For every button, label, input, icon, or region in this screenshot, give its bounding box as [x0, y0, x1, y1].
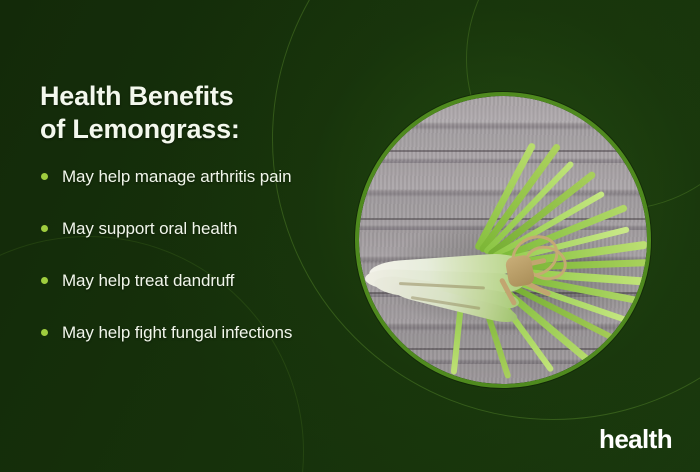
benefit-label: May help manage arthritis pain — [62, 167, 291, 186]
infographic-canvas: Health Benefits of Lemongrass: May help … — [0, 0, 700, 472]
bullet-dot-icon — [41, 225, 48, 232]
list-item: May help fight fungal infections — [38, 322, 368, 344]
lemongrass-photo-circle — [355, 92, 651, 388]
lemongrass-bundle — [359, 96, 647, 384]
benefit-label: May support oral health — [62, 219, 237, 238]
bullet-dot-icon — [41, 329, 48, 336]
benefits-list: May help manage arthritis pain May suppo… — [38, 166, 368, 344]
wood-background — [359, 96, 647, 384]
bullet-dot-icon — [41, 277, 48, 284]
benefit-label: May help treat dandruff — [62, 271, 234, 290]
list-item: May help treat dandruff — [38, 270, 368, 292]
bullet-dot-icon — [41, 173, 48, 180]
health-logo-wordmark: health — [599, 426, 672, 452]
benefit-label: May help fight fungal infections — [62, 323, 292, 342]
list-item: May support oral health — [38, 218, 368, 240]
list-item: May help manage arthritis pain — [38, 166, 368, 188]
page-title: Health Benefits of Lemongrass: — [40, 80, 240, 146]
